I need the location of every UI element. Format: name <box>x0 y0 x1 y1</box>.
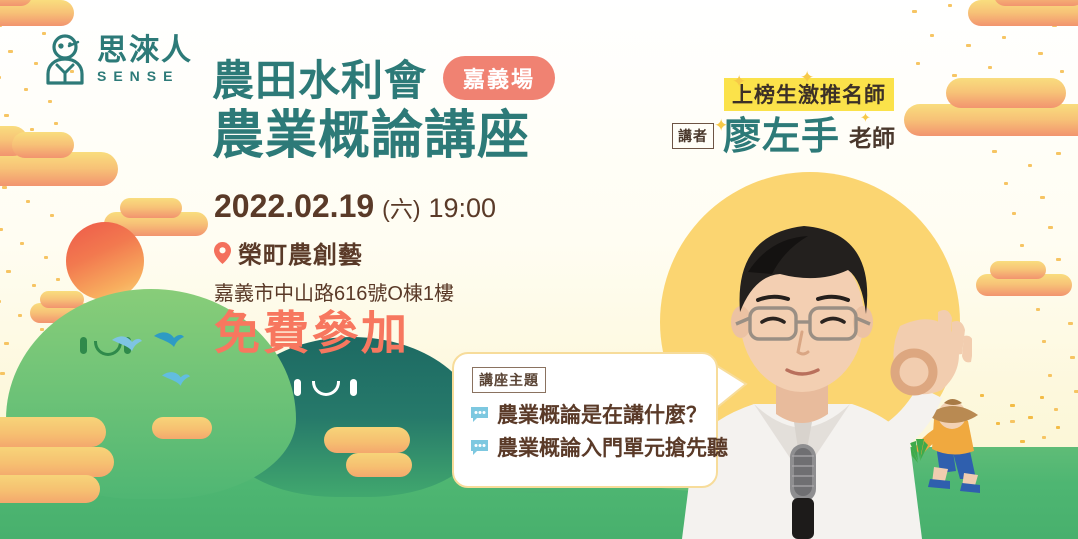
headline-block: 農田水利會 嘉義場 農業概論講座 <box>212 56 555 164</box>
speech-bubble-icon <box>470 439 489 456</box>
hill-eye <box>350 379 357 396</box>
session-badge: 嘉義場 <box>443 56 555 100</box>
sparkle-icon: ✦ <box>714 116 728 136</box>
brand-name-en: SENSE <box>97 69 193 83</box>
terrace-slab <box>152 417 212 439</box>
title-line-2: 農業概論講座 <box>212 108 555 164</box>
cloud-shape <box>0 152 118 186</box>
event-weekday: (六) <box>382 190 420 224</box>
hill-eye <box>80 337 87 354</box>
terrace-slab <box>0 475 100 503</box>
speech-bubble-tail <box>714 362 748 420</box>
topic-text: 農業概論入門單元搶先聽 <box>497 432 728 462</box>
sparkle-icon: ✦ <box>860 110 871 126</box>
brand-logo[interactable]: 思淶人 SENSE <box>42 33 193 85</box>
topics-panel: 講座主題 農業概論是在講什麼？ 農業概論入門單元搶先聽 <box>452 352 718 488</box>
sense-mascot-icon <box>42 33 88 85</box>
speaker-role-label: 講者 <box>672 123 714 149</box>
topics-title: 講座主題 <box>472 367 546 393</box>
sparkle-icon: ✦ <box>732 72 746 92</box>
event-date: 2022.02.19 <box>214 188 374 225</box>
terrace-slab <box>346 453 412 477</box>
sparkle-icon: ✦ <box>800 68 814 88</box>
brand-name-cn: 思淶人 <box>97 36 193 66</box>
speaker-honorific: 老師 <box>849 119 895 153</box>
cloud-shape <box>968 0 1078 26</box>
event-datetime: 2022.02.19 (六) 19:00 <box>214 188 496 225</box>
map-pin-icon <box>214 242 231 264</box>
event-venue: 榮町農創藝 <box>238 235 363 270</box>
terrace-slab <box>0 447 114 477</box>
cloud-shape <box>976 274 1072 296</box>
title-line-1: 農田水利會 <box>212 59 427 103</box>
event-poster: 思淶人 SENSE 農田水利會 嘉義場 農業概論講座 2022.02.19 (六… <box>0 0 1078 539</box>
speech-bubble-icon <box>470 406 489 423</box>
topic-list-item: 農業概論入門單元搶先聽 <box>470 432 728 462</box>
cloud-shape <box>0 0 74 26</box>
event-time: 19:00 <box>428 193 496 224</box>
terrace-slab <box>0 417 106 447</box>
speaker-banner: 上榜生激推名師 講者 廖左手 老師 ✦ ✦ ✦ ✦ <box>672 78 972 156</box>
bird-icon <box>110 332 144 362</box>
hill-mouth <box>312 381 340 396</box>
bird-icon <box>152 328 186 358</box>
terrace-slab <box>324 427 410 453</box>
event-info-block: 2022.02.19 (六) 19:00 榮町農創藝 嘉義市中山路616號O棟1… <box>214 188 496 306</box>
bird-icon <box>160 368 192 396</box>
topic-list-item: 農業概論是在講什麼？ <box>470 399 707 429</box>
price-note: 免費參加 <box>214 297 410 363</box>
event-venue-line: 榮町農創藝 <box>214 235 496 270</box>
sun-circle <box>66 222 144 300</box>
topic-text: 農業概論是在講什麼？ <box>497 399 707 429</box>
hill-eye <box>294 379 301 396</box>
speaker-name: 廖左手 <box>723 118 840 156</box>
